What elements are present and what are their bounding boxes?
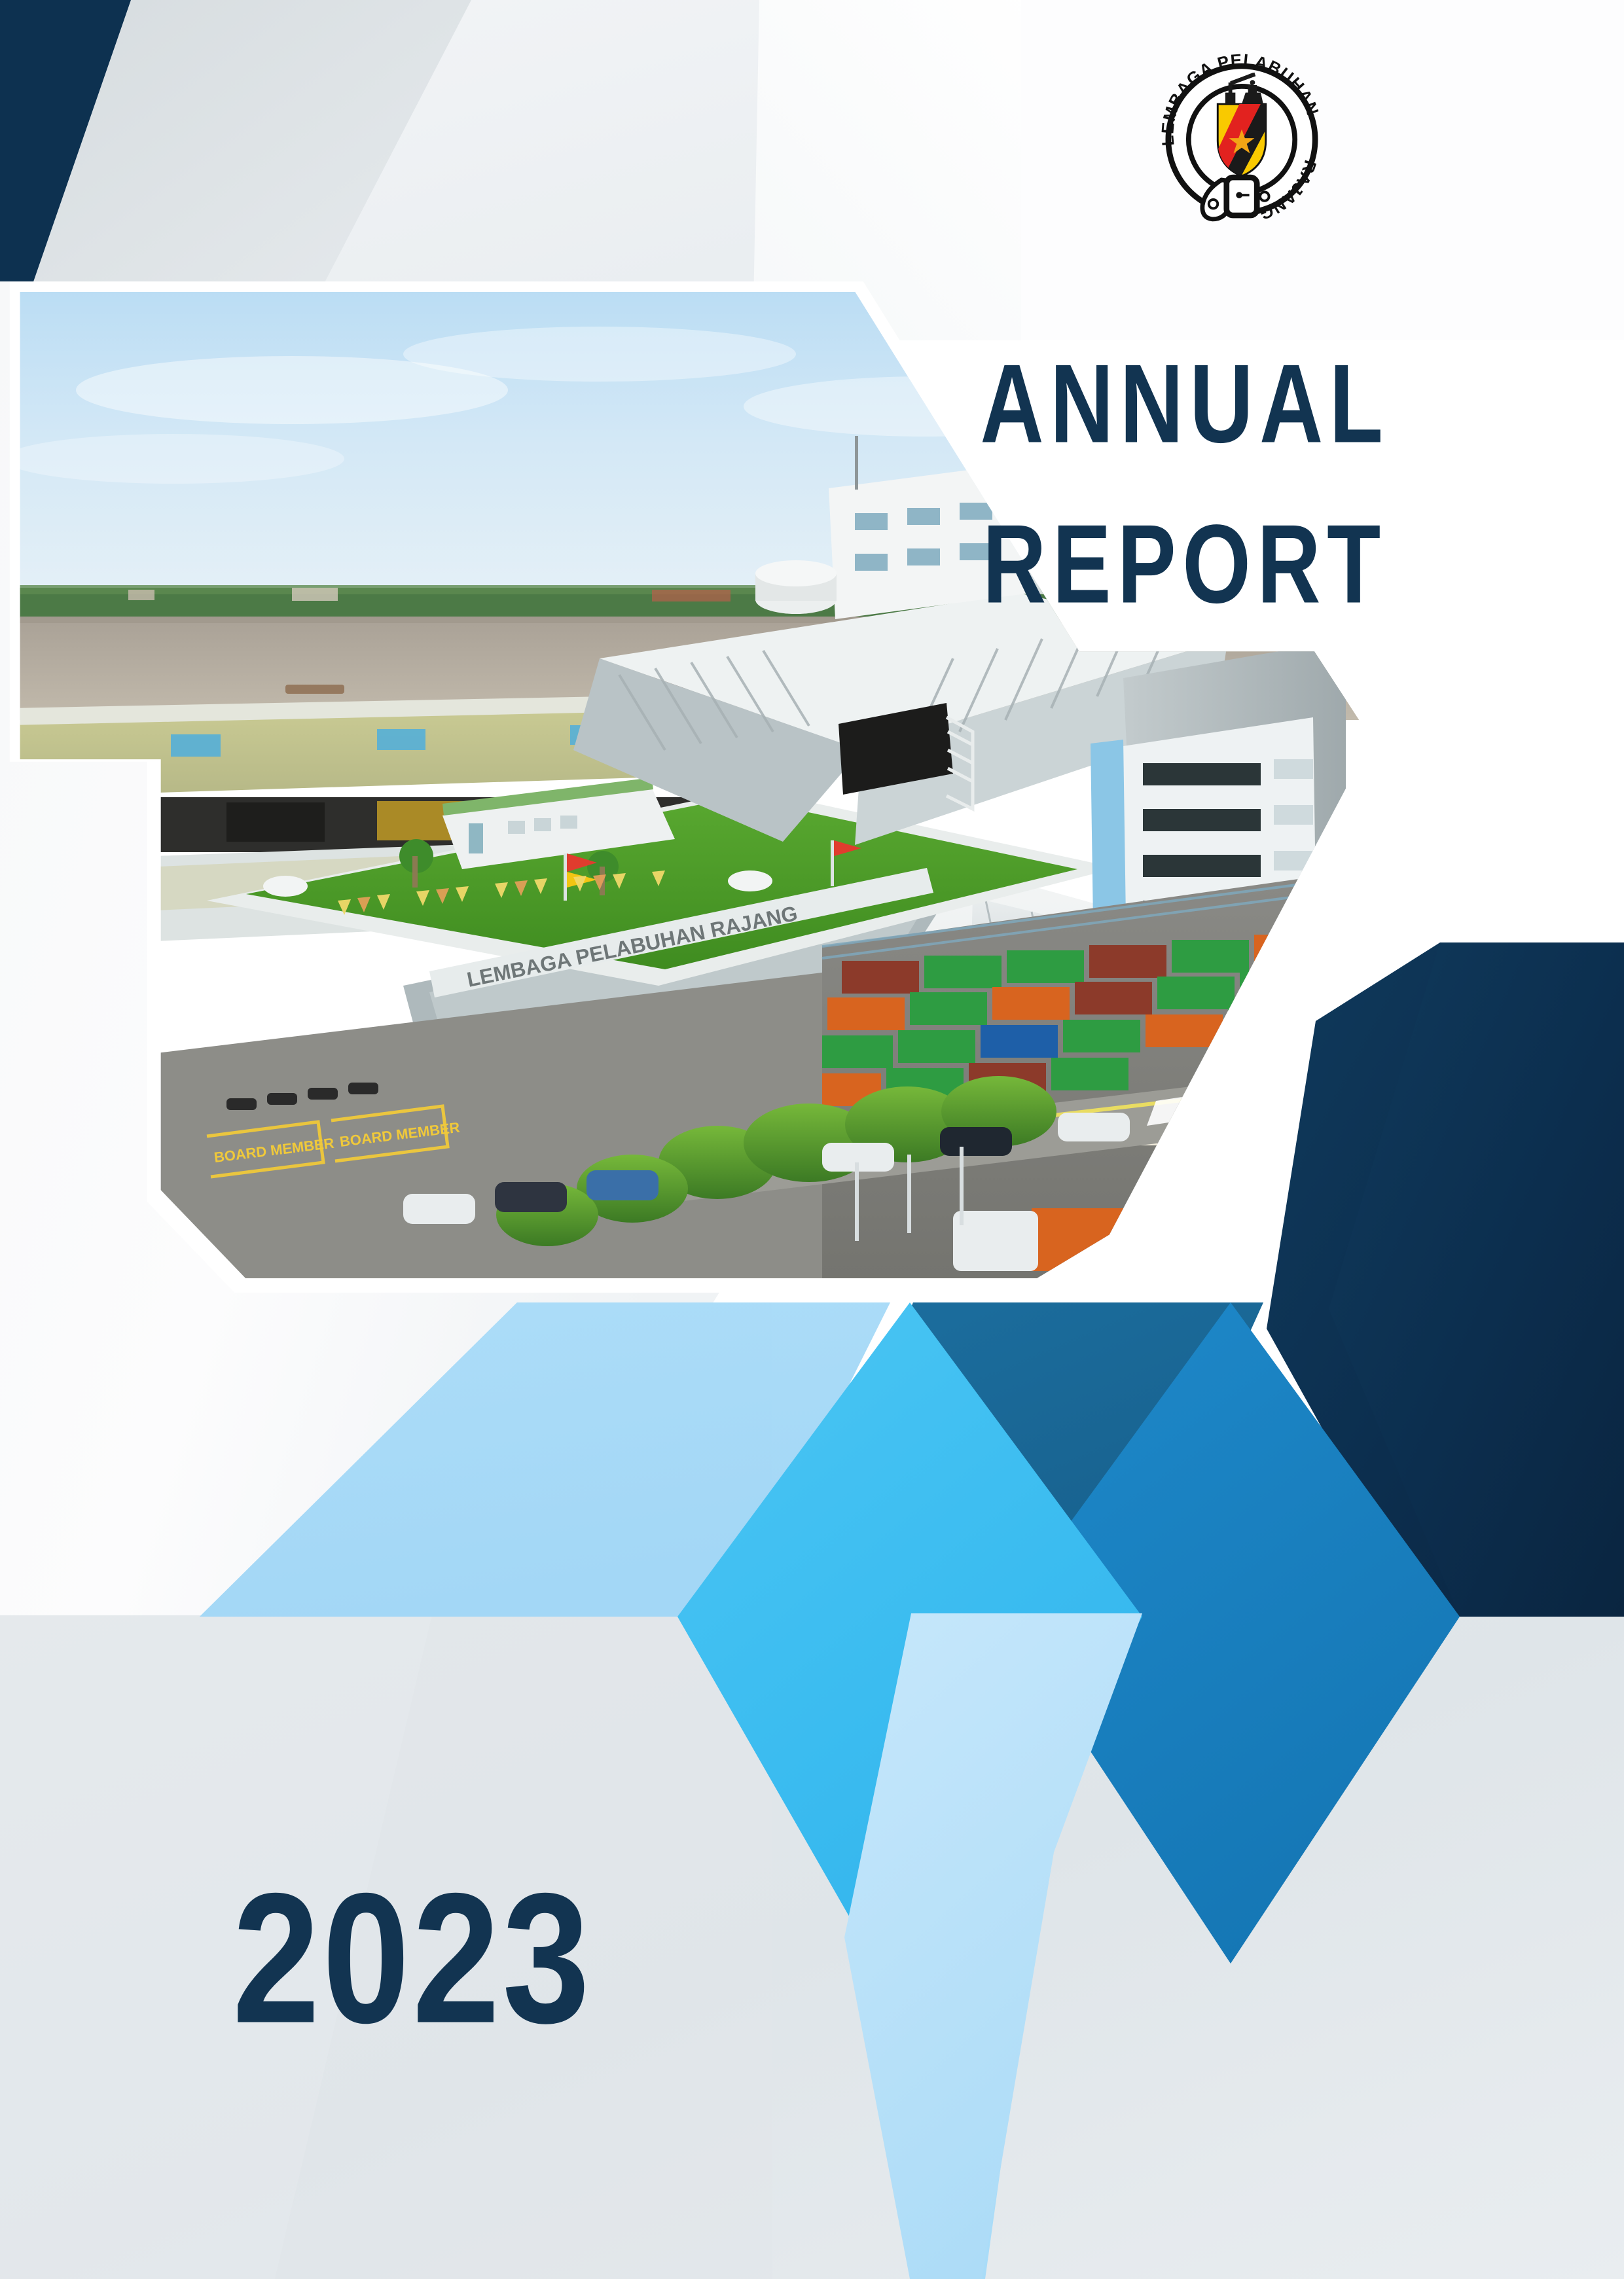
title-line-annual: ANNUAL xyxy=(909,321,1462,486)
cover-title: ANNUAL REPORT xyxy=(897,321,1473,617)
cover-year: 2023 xyxy=(232,1865,592,2051)
organization-logo: LEMBAGA PELABUHAN RAJANG xyxy=(1147,46,1337,236)
annual-report-cover: LEMBAGA PELABUHAN RAJANG xyxy=(0,0,1624,2279)
title-line-report: REPORT xyxy=(909,481,1462,647)
